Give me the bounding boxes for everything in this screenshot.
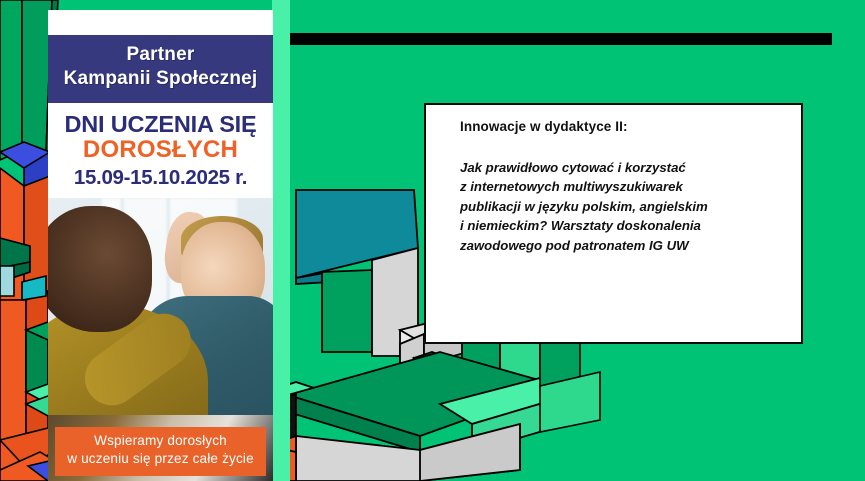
panel-heading: Innowacje w dydaktyce II:: [460, 119, 791, 136]
poster-footer-line-1: Wspieramy dorosłych: [59, 432, 262, 450]
poster-photo: [48, 198, 273, 438]
panel-body-line-4: i niemieckim? Warsztaty doskonalenia: [460, 216, 791, 235]
panel-body-line-1: Jak prawidłowo cytować i korzystać: [460, 158, 791, 177]
panel-body-line-3: publikacji w języku polskim, angielskim: [460, 197, 791, 216]
slide-canvas: Innowacje w dydaktyce II: Jak prawidłowo…: [0, 0, 865, 481]
poster-title-dates: 15.09-15.10.2025 r.: [52, 166, 269, 191]
poster-title-block: DNI UCZENIA SIĘ DOROSŁYCH 15.09-15.10.20…: [48, 103, 273, 199]
poster-footer-banner: Wspieramy dorosłych w uczeniu się przez …: [55, 427, 266, 476]
mint-accent-strip: [272, 0, 290, 481]
photo-woman-head: [48, 206, 152, 332]
poster-title-line-1: DNI UCZENIA SIĘ: [52, 112, 269, 137]
panel-body-line-5: zawodowego pod patronatem IG UW: [460, 236, 791, 255]
poster-footer-line-2: w uczeniu się przez całe życie: [59, 450, 262, 468]
poster-header-line-2: Kampanii Społecznej: [54, 67, 267, 91]
poster-header-banner: Partner Kampanii Społecznej: [48, 35, 273, 103]
poster-footer-area: Wspieramy dorosłych w uczeniu się przez …: [48, 415, 273, 481]
poster-title-line-2: DOROSŁYCH: [52, 137, 269, 164]
content-panel-inner: Innowacje w dydaktyce II: Jak prawidłowo…: [460, 119, 791, 255]
poster-top-whitespace: [48, 10, 273, 35]
campaign-poster: Partner Kampanii Społecznej DNI UCZENIA …: [48, 10, 273, 481]
black-divider-bar: [290, 33, 832, 45]
panel-body: Jak prawidłowo cytować i korzystać z int…: [460, 158, 791, 255]
panel-body-line-2: z internetowych multiwyszukiwarek: [460, 177, 791, 196]
content-panel: Innowacje w dydaktyce II: Jak prawidłowo…: [424, 103, 803, 344]
poster-header-line-1: Partner: [54, 43, 267, 67]
